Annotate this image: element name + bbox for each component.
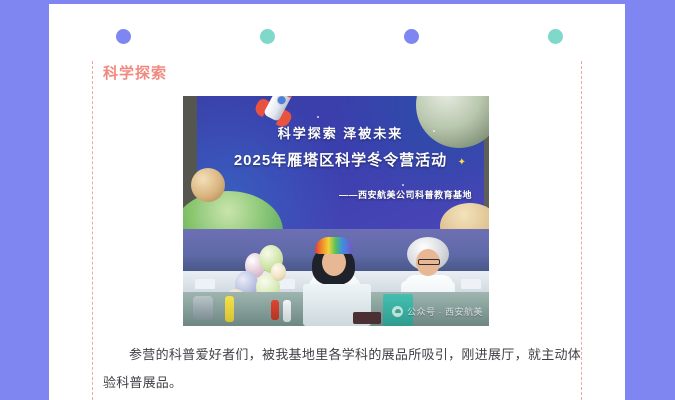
page-root: 科学探索 (0, 0, 675, 400)
body-paragraph: 参营的科普爱好者们，被我基地里各学科的展品所吸引，刚进展厅，就主动体验科普展品。 (103, 341, 581, 397)
paper-5 (461, 279, 481, 289)
guide-rail-right (581, 61, 582, 400)
bottle-red (271, 300, 279, 320)
deco-dot-2 (260, 29, 275, 44)
banner-subtitle: ——西安航美公司科普教育基地 (339, 188, 472, 201)
guide-rail-left (92, 61, 93, 400)
article-card: 科学探索 (49, 4, 625, 400)
section-heading: 科学探索 (103, 64, 167, 84)
watermark-label: 公众号 · 西安航美 (407, 305, 483, 318)
bottle-white (283, 300, 291, 322)
activity-photo: ✦ ✦ 科学探索 泽被未来 2025年雁塔区科学冬令营活动 ——西安航美公司科普… (183, 96, 489, 326)
banner-title-line-1: 科学探索 泽被未来 (197, 123, 484, 142)
presenter-2-glasses (418, 259, 440, 265)
kettle (193, 296, 213, 320)
wechat-icon (392, 306, 403, 317)
deco-dot-1 (116, 29, 131, 44)
banner-text-block: 科学探索 泽被未来 2025年雁塔区科学冬令营活动 ——西安航美公司科普教育基地 (197, 96, 484, 229)
paper-1 (195, 279, 215, 289)
deco-dot-4 (548, 29, 563, 44)
banner-title-line-2: 2025年雁塔区科学冬令营活动 (197, 149, 484, 170)
bottle-yellow (225, 296, 234, 322)
balloon-7 (271, 263, 286, 281)
presenter-1-rainbow-wig (315, 237, 353, 254)
photo-watermark: 公众号 · 西安航美 (392, 305, 483, 318)
deco-dot-3 (404, 29, 419, 44)
tray-dark (353, 312, 381, 324)
decorative-dot-row (49, 26, 625, 50)
photo-inner: ✦ ✦ 科学探索 泽被未来 2025年雁塔区科学冬令营活动 ——西安航美公司科普… (183, 96, 489, 326)
